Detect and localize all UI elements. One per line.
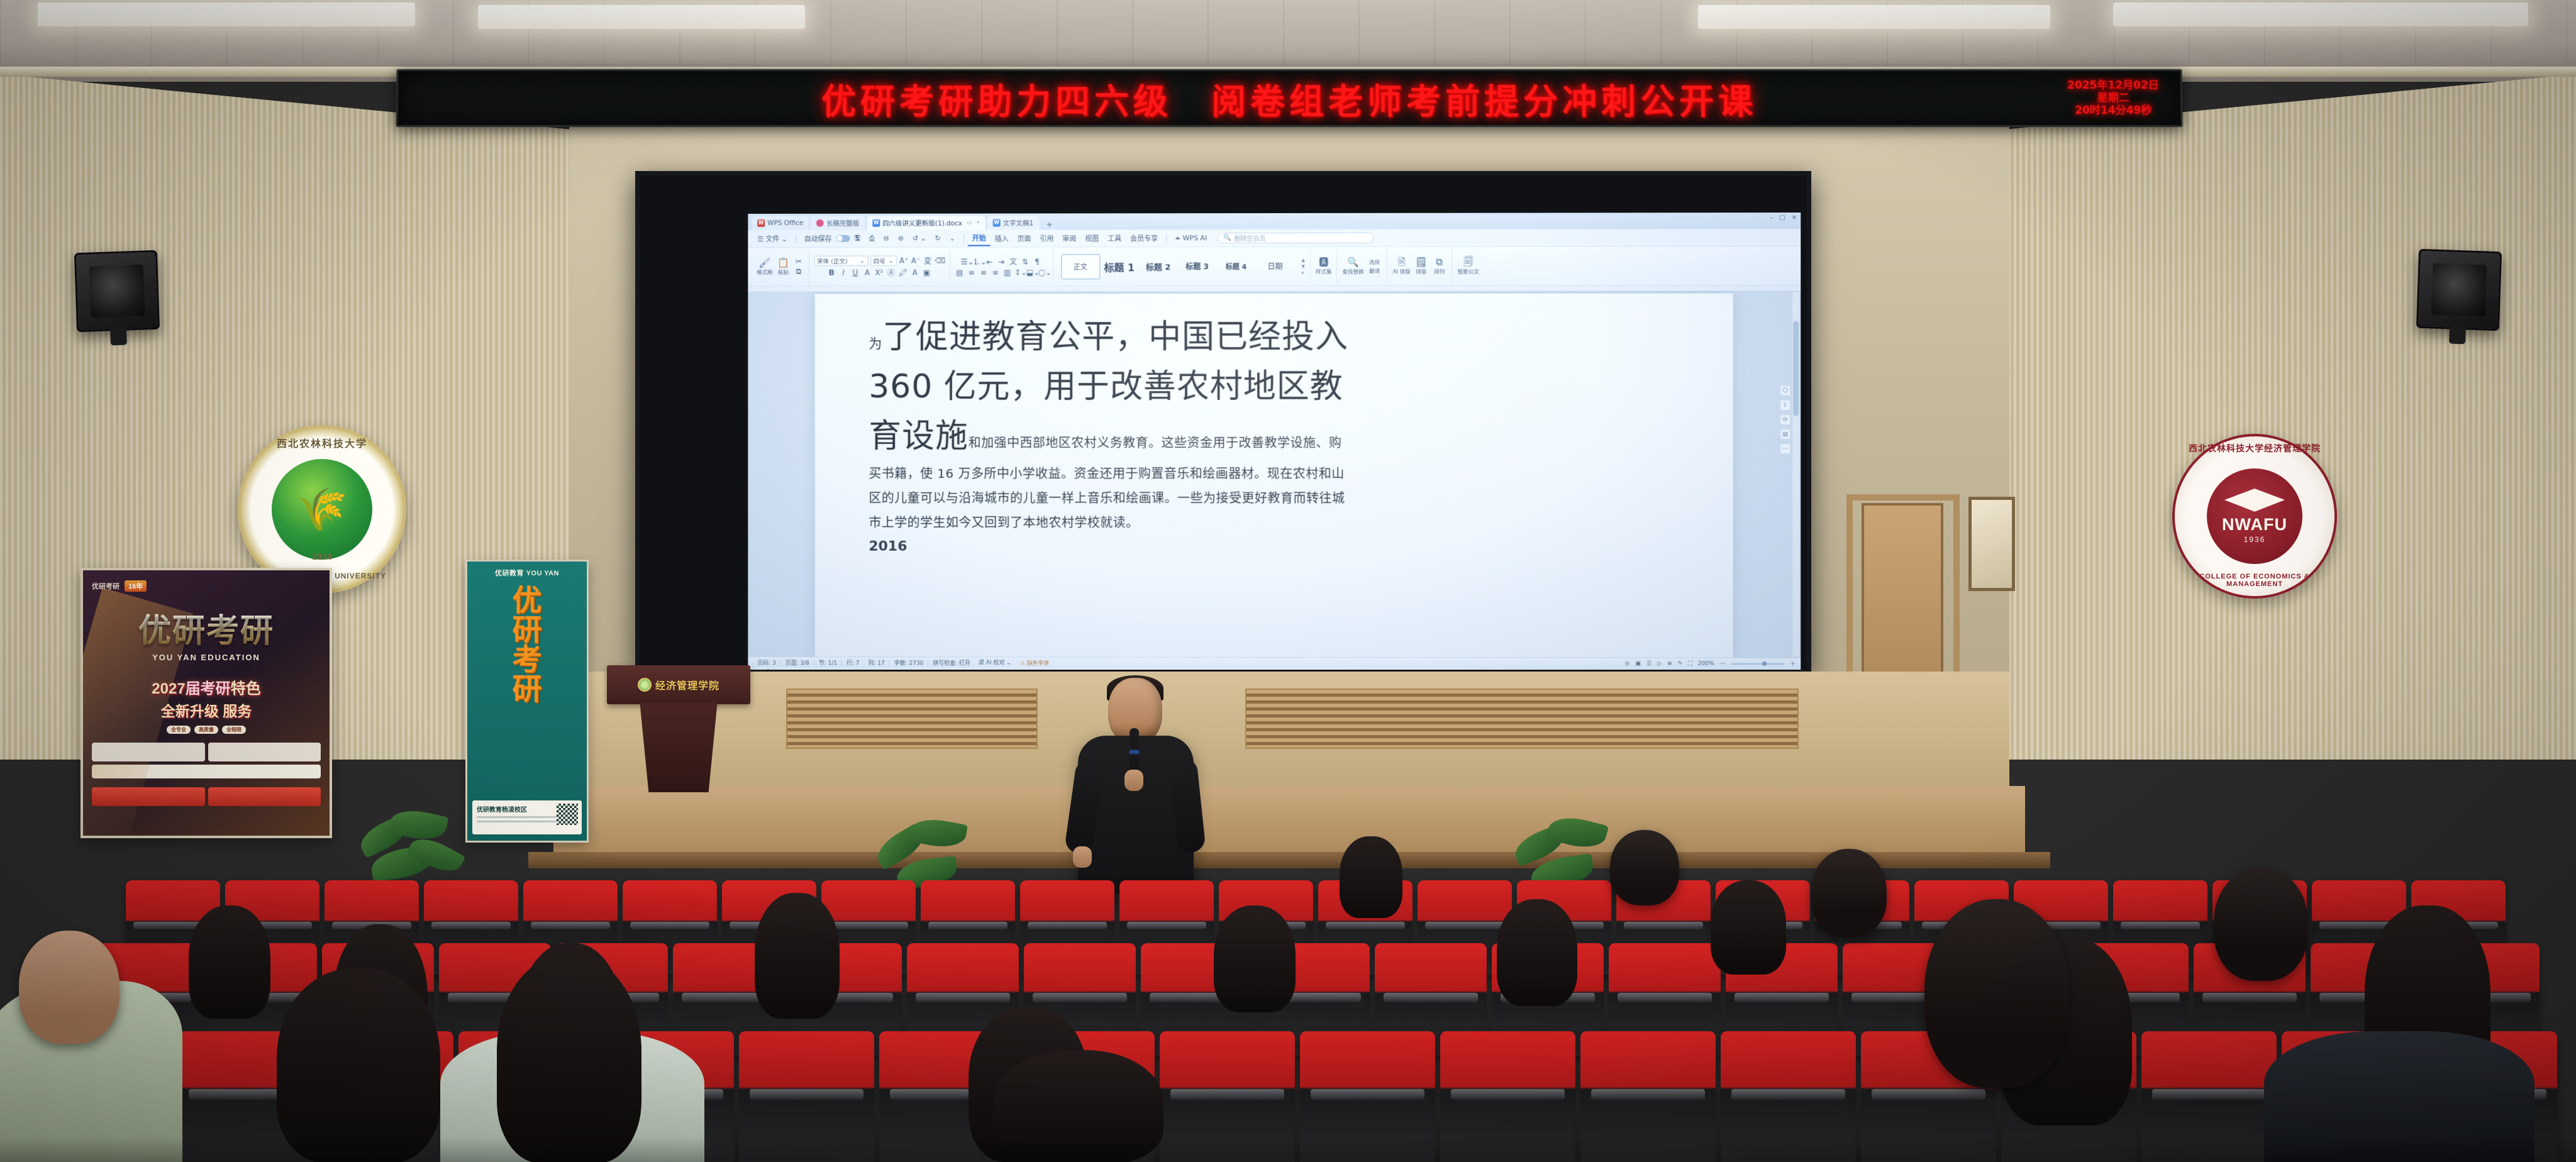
more-icon[interactable]: ⌄ [945,235,960,243]
text-box-button[interactable]: ▣ [922,268,931,277]
speaker-mount [2449,325,2466,345]
numbered-list-icon[interactable]: ⒈⌄ [973,256,982,267]
font-row-top: 宋体 (正文)⌄ 四号⌄ A⁺ A⁻ 変 ⌫ [814,255,944,266]
paragraph-row-bottom: ▤ ≡ ≡ ≡ ▥ ↕⌄ ⬓⌄ ▢⌄ [955,268,1048,277]
heading-prefix-char: 为 [869,336,882,351]
wps-ribbon: 🖌 格式刷 📋 粘贴 ✂ ⧉ [748,246,1801,287]
emblem-right-acronym: NWAFU [2222,515,2287,534]
wall-vent-right [1245,689,1799,749]
audience-member [1711,880,1786,975]
menu-divider [1166,234,1167,243]
tab-doc1[interactable]: W 文字文稿1 [987,216,1039,230]
layout-icon: 🗒 [1415,257,1427,267]
menu-file[interactable]: ☰ 文件 ⌄ [753,233,792,243]
document-canvas[interactable]: 为了促进教育公平，中国已经投入 360 亿元，用于改善农村地区教 育设施和加强中… [748,290,1801,658]
superscript-button[interactable]: X² [874,268,884,277]
clipboard-minor-buttons: ✂ ⧉ [794,257,803,277]
ribbon-search-box[interactable]: 🔍 删除空白页 [1218,233,1374,243]
strikethrough-button[interactable]: A [862,268,872,277]
select-label: 选择 [1369,258,1380,265]
new-tab-button[interactable]: + [1041,220,1058,230]
projection-screen: W WPS Office 长稿完整版 W 四六级讲义更新版(1).docx ▭ … [748,213,1801,674]
window-controls: – □ ✕ [1770,214,1797,221]
podium-header: 经济管理学院 [607,665,750,704]
font-family-select[interactable]: 宋体 (正文)⌄ [814,256,868,266]
menu-tab-reference[interactable]: 引用 [1036,233,1058,243]
document-heading-line-2: 360 亿元，用于改善农村地区教 [869,362,1679,412]
audience-foreground-hair [497,956,641,1162]
wall-speaker-left [74,250,160,333]
menu-tab-insert[interactable]: 插入 [991,233,1013,243]
document-side-toolbar: 🗨 ⇪ ⟳ ▤ ⋯ [1779,385,1791,454]
zoom-slider[interactable] [1731,663,1784,664]
paste-label: 粘贴 [778,268,789,275]
asian-layout-icon[interactable]: 文 [1009,256,1018,267]
ai-layout-button[interactable]: 🗎 AI 排版 [1393,257,1411,275]
menu-tab-page[interactable]: 页面 [1013,233,1036,243]
font-size-select[interactable]: 四号⌄ [870,256,897,266]
wall-right [1991,74,2576,760]
ribbon-group-paragraph: ☰⌄ ⒈⌄ ⇤ ⇥ 文 ⇅ ¶ ▤ ≡ ≡ [950,249,1053,284]
audience-foreground-head [19,931,119,1044]
audience-member [755,893,840,1019]
arrange-label: 排列 [1434,267,1445,275]
shading-icon[interactable]: ⬓⌄ [1026,268,1036,277]
distribute-icon[interactable]: ▥ [1002,268,1012,277]
poster-title: 优研考研 [92,604,321,651]
tab-label: 四六级讲义更新版(1).docx [882,218,962,228]
italic-button[interactable]: I [839,268,848,277]
poster-chip-row: 全专业 高质量 全程陪 [92,726,321,734]
layout-label: 排版 [1416,267,1426,275]
style-set-icon: 🅰 [1319,257,1328,267]
find-replace-button[interactable]: 🔍 查找替换 [1342,257,1363,275]
promo-feature: 特色 [231,680,261,697]
emblem-right-cn-name: 西北农林科技大学经济管理学院 [2175,442,2334,455]
ceiling-light-panel [38,3,415,26]
ceiling-light-panel [2113,3,2528,26]
arrange-icon: ⧉ [1436,257,1443,267]
promo-upgrade: 全新升级 [161,703,219,719]
missing-font-label: 缺失字体 [1027,661,1050,667]
banner-char: 研 [513,616,542,645]
side-more-icon[interactable]: ⋯ [1780,443,1790,454]
tab-wps-office[interactable]: W WPS Office [752,216,809,230]
microphone [1130,728,1139,773]
paragraph-row-top: ☰⌄ ⒈⌄ ⇤ ⇥ 文 ⇅ ¶ [961,256,1042,267]
show-marks-icon[interactable]: ¶ [1033,257,1042,266]
banner-char-stack: 优 研 考 研 [513,587,542,704]
banner-char: 研 [513,675,542,704]
wps-menu-bar: ☰ 文件 ⌄ 自动保存 🖫 ⎙ ⊖ ⊚ ↺ ⌄ ↻ ⌄ 开始 插入 页面 [748,229,1801,248]
grow-font-icon[interactable]: A⁺ [899,257,909,265]
audience-foreground-head [1924,899,2069,1088]
poster-youyan-banner: 优研教育 YOU YAN 优 研 考 研 优研教育杨凌校区 [465,560,589,843]
menu-tab-view[interactable]: 视图 [1080,233,1103,243]
emblem-right-en-name: COLLEGE OF ECONOMICS & MANAGEMENT [2175,573,2334,588]
audience-member [1497,899,1577,1006]
pink-doc-icon [816,219,824,227]
led-banner: 优研考研助力四六级 阅卷组老师考前提分冲刺公开课 2025年12月02日 星期二… [396,69,2182,127]
wall-picture [1968,497,2015,591]
search-icon: 🔍 [1223,235,1231,241]
side-nav-icon[interactable]: ▤ [1780,429,1790,440]
auditorium-seat [1580,1031,1716,1162]
word-doc-icon: W [872,219,880,227]
presenter-mic-hand [1124,770,1143,791]
audience-member [189,905,270,1019]
podium-body [635,703,723,792]
document-body-line-2: 买书籍，使 16 万多所中小学收益。资金还用于购置音乐和绘画器材。现在农村和山 [869,462,1679,486]
status-col: 列: 17 [863,658,889,667]
poster-promo: 2027届考研特色 全新升级 服务 全专业 高质量 全程陪 [92,676,321,734]
wps-ai-label: WPS AI [1182,234,1207,242]
paragraph-controls: ☰⌄ ⒈⌄ ⇤ ⇥ 文 ⇅ ¶ ▤ ≡ ≡ [955,256,1048,277]
tab-pin-icon[interactable]: • [976,220,979,226]
shrink-font-icon[interactable]: A⁻ [911,257,921,265]
tab-close-icon[interactable]: ▭ [967,220,972,226]
underline-button[interactable]: U [851,268,860,277]
tab-cet-lecture-doc[interactable]: W 四六级讲义更新版(1).docx ▭ • [867,216,985,230]
document-page[interactable]: 为了促进教育公平，中国已经投入 360 亿元，用于改善农村地区教 育设施和加强中… [815,293,1733,657]
paste-button[interactable]: 📋 粘贴 [776,258,791,275]
autosave-label: 自动保存 [800,233,836,243]
audience-foreground-hair [994,1050,1163,1162]
ribbon-group-clipboard: 🖌 格式刷 📋 粘贴 ✂ ⧉ [752,250,809,284]
font-size-value: 四号 [874,257,885,265]
banner-char: 考 [513,646,542,674]
status-section: 节: 1/1 [814,658,841,667]
ribbon-group-find: 🔍 查找替换 选择 翻译 [1337,249,1387,284]
poster-chip: 高质量 [194,726,218,734]
format-painter-label: 格式刷 [757,268,772,275]
zoom-slider-knob[interactable] [1762,661,1767,665]
save-icon[interactable]: 🖫 [850,233,865,245]
promo-service: 服务 [223,703,252,719]
magnifier-icon: 🔍 [1347,257,1359,267]
maximize-icon[interactable]: □ [1779,214,1785,221]
status-missing-font[interactable]: ⚠ 缺失字体 [1016,659,1054,667]
heading-tail: 育设施 [869,418,968,455]
emblem-left-cn-name: 西北农林科技大学 [241,435,403,450]
align-left-icon[interactable]: ▤ [955,268,964,277]
status-row: 行: 7 [842,658,863,667]
style-set-label: 样式集 [1316,267,1332,275]
poster-card-grid-2 [92,787,321,806]
undo-icon[interactable]: ↺ ⌄ [908,235,931,243]
scissors-icon[interactable]: ✂ [794,257,803,266]
page-view-icon[interactable]: ▣ [1635,660,1641,667]
print-preview-icon[interactable]: ⎙ [865,234,879,243]
align-center-icon[interactable]: ≡ [967,268,976,277]
focus-icon[interactable]: ◎ [1624,660,1629,667]
style-heading-2[interactable]: 标题 2 [1139,254,1178,279]
font-row-bottom: B I U A X² Ⓐ 🖍 A ▣ [827,267,931,278]
poster-chip: 全程陪 [222,726,246,734]
emblem-right-year: 1936 [2244,535,2266,544]
ribbon-group-styles: 正文 标题 1 标题 2 标题 3 标题 4 日期 ▲ ▼ ▾ [1053,249,1311,284]
tab-draft-doc[interactable]: 长稿完整版 [811,216,865,230]
wps-tab-bar: W WPS Office 长稿完整版 W 四六级讲义更新版(1).docx ▭ … [748,213,1801,230]
style-gallery: 正文 标题 1 标题 2 标题 3 标题 4 日期 [1058,253,1297,279]
wps-office-window: W WPS Office 长稿完整版 W 四六级讲义更新版(1).docx ▭ … [748,213,1801,674]
find-replace-label: 查找替换 [1342,267,1363,275]
style-normal[interactable]: 正文 [1061,254,1100,279]
wall-vent-left [786,689,1038,749]
ribbon-group-smart-doc: 🗐 智能公文 [1453,249,1484,284]
poster-card-highlight [208,787,321,806]
document-scrollbar[interactable] [1792,292,1799,656]
read-icon[interactable]: ▷ [1657,660,1662,667]
menu-file-label: 文件 [766,235,780,243]
poster-card-grid [92,743,321,761]
style-date[interactable]: 日期 [1256,253,1295,279]
side-history-icon[interactable]: ⟳ [1780,414,1790,425]
auditorium-seat [1440,1031,1575,1162]
chevron-down-icon: ⌄ [860,257,865,264]
menu-divider [796,234,796,243]
audience-member [2214,868,2308,981]
wall-speaker-right [2416,249,2502,331]
audience-foreground-coat [2264,1031,2534,1162]
autosave-toggle[interactable] [836,235,850,242]
poster-card [208,743,321,761]
poster-youyan-main: 优研考研 16年 优研考研 YOU YAN EDUCATION 2027届考研特… [80,568,332,838]
poster-card [92,743,205,761]
scroll-down-icon[interactable]: ▼ [1302,263,1305,268]
auditorium-seat [2141,1031,2277,1162]
auditorium-seat [1160,1031,1295,1162]
edit-icon[interactable]: ✎ [1678,660,1683,667]
copy-icon[interactable]: ⧉ [794,267,803,277]
podium: 经济管理学院 [607,665,750,791]
led-banner-headline: 优研考研助力四六级 阅卷组老师考前提分冲刺公开课 [821,73,1758,123]
status-pages: 页面: 3/8 [781,658,814,667]
ai-proof-label: AI 校对 [986,660,1005,666]
style-heading-1[interactable]: 标题 1 [1100,254,1139,279]
increase-indent-icon[interactable]: ⇥ [997,257,1006,266]
document-body-line-3: 区的儿童可以与沿海城市的儿童一样上音乐和绘画课。一些为接受更好教育而转往城 [869,486,1679,511]
document-heading-line-3: 育设施和加强中西部地区农村义务教育。这些资金用于改善教学设施、购 [869,412,1679,462]
style-heading-4[interactable]: 标题 4 [1217,254,1256,279]
text-effects-button[interactable]: Ⓐ [886,267,896,278]
menu-divider [963,234,964,243]
tab-label: WPS Office [767,219,803,227]
menu-tab-start[interactable]: 开始 [968,231,991,246]
led-time: 20时14分49秒 [2067,104,2159,117]
ceiling-light-panel [478,5,805,29]
smart-doc-label: 智能公文 [1458,267,1479,275]
scroll-up-icon[interactable]: ▲ [1302,257,1305,262]
cloud-icon[interactable]: ⊚ [894,235,908,243]
redo-icon[interactable]: ↻ [931,235,945,243]
line-spacing-icon[interactable]: ↕⌄ [1014,268,1024,277]
led-date: 2025年12月02日 [2067,79,2159,92]
banner-footer: 优研教育杨凌校区 [472,800,582,834]
select-button[interactable]: 选择 [1367,258,1382,265]
auditorium-seat [1300,1031,1435,1162]
poster-title-en: YOU YAN EDUCATION [92,653,321,662]
banner-top-label: 优研教育 YOU YAN [495,568,559,578]
presenter-free-hand [1073,846,1092,868]
tab-label: 文字文稿1 [1003,218,1034,228]
document-body-line-4: 市上学的学生如今又回到了本地农村学校就读。 [869,511,1679,536]
poster-promo-line-1: 2027届考研特色 [92,676,321,698]
ribbon-group-style-set: 🅰 样式集 [1311,249,1338,284]
body-line-1: 和加强中西部地区农村义务教育。这些资金用于改善教学设施、购 [969,435,1342,450]
poster-bar [92,765,321,778]
fullscreen-icon[interactable]: ⛶ [1688,660,1692,667]
emblem-left-year: 1934 [241,551,403,562]
ribbon-group-font: 宋体 (正文)⌄ 四号⌄ A⁺ A⁻ 変 ⌫ [809,250,950,284]
align-right-icon[interactable]: ≡ [979,268,988,277]
tab-label: 长稿完整版 [826,218,859,228]
translate-button[interactable]: 翻译 [1367,267,1382,274]
banner-char: 优 [513,587,542,615]
presenter [1069,678,1201,892]
status-spellcheck[interactable]: 拼写检查: 打开 [928,658,975,667]
search-placeholder: 删除空白页 [1235,233,1266,243]
zoom-out-icon[interactable]: － [1720,660,1726,668]
graduation-cap-icon [2224,489,2285,514]
audience-member [1214,905,1296,1012]
poster-card-highlight [92,787,205,806]
font-color-button[interactable]: A [910,268,919,277]
smart-document-button[interactable]: 🗐 智能公文 [1458,257,1479,275]
expand-gallery-icon[interactable]: ▾ [1302,270,1305,275]
poster-promo-line-2: 全新升级 服务 [92,699,321,721]
sort-icon[interactable]: ⇅ [1021,257,1030,266]
podium-label: 经济管理学院 [655,677,719,692]
college-emblem-right: 西北农林科技大学经济管理学院 NWAFU 1936 COLLEGE OF ECO… [2172,434,2337,599]
side-share-icon[interactable]: ⇪ [1780,400,1790,411]
status-word-count[interactable]: 字数: 2730 [890,658,928,667]
document-next-marker: 2016 [869,539,1679,555]
clear-format-icon[interactable]: ⌫ [935,257,944,265]
auditorium-seat [1721,1031,1856,1162]
bullet-list-icon[interactable]: ☰⌄ [961,257,970,266]
nwafu-crest-icon: NWAFU 1936 [2207,468,2302,564]
led-banner-clock: 2025年12月02日 星期二 20时14分49秒 [2067,79,2159,117]
wps-logo-icon: W [757,219,765,227]
decrease-indent-icon[interactable]: ⇤ [985,257,994,266]
speaker-mount [110,326,127,346]
chevron-down-icon: ⌄ [889,257,894,264]
menu-tab-review[interactable]: 审阅 [1058,233,1080,243]
status-right-cluster: ◎ ▣ ☰ ▷ ⊕ ✎ ⛶ 200% － ＋ [1624,660,1796,668]
side-comment-icon[interactable]: 🗨 [1780,385,1790,396]
lecture-hall-scene: 优研考研助力四六级 阅卷组老师考前提分冲刺公开课 2025年12月02日 星期二… [0,0,2576,1162]
translate-label: 翻译 [1369,267,1380,274]
status-ai-proofread[interactable]: 🗹 AI 校对 ⌄ [975,658,1016,668]
status-page-no: 页码: 3 [753,658,780,667]
zoom-level[interactable]: 200% [1698,660,1714,667]
audience-foreground-hair [277,968,440,1162]
poster-top-row: 优研考研 16年 [92,580,321,592]
wheat-icon: 🌾 [272,459,372,560]
ribbon-group-layout: 🗎 AI 排版 🗒 排版 ⧉ 排列 [1388,249,1453,284]
poster-brand-label: 优研考研 [92,581,119,591]
brush-icon: 🖌 [758,258,770,267]
menu-wps-ai[interactable]: ⏶ WPS AI [1170,234,1211,243]
style-gallery-scroll[interactable]: ▲ ▼ ▾ [1302,257,1305,275]
clipboard-icon: 📋 [777,258,789,267]
borders-icon[interactable]: ▢⌄ [1038,268,1048,277]
audience-member [1610,830,1679,905]
audience-member [1340,836,1402,918]
poster-chip: 全专业 [167,726,191,734]
projection-screen-frame: W WPS Office 长稿完整版 W 四六级讲义更新版(1).docx ▭ … [635,171,1811,674]
font-controls: 宋体 (正文)⌄ 四号⌄ A⁺ A⁻ 変 ⌫ [814,255,944,278]
smart-doc-icon: 🗐 [1463,257,1473,267]
led-weekday: 星期二 [2067,92,2159,104]
find-extra: 选择 翻译 [1367,258,1382,274]
zoom-in-icon[interactable]: ＋ [1790,660,1796,668]
close-icon[interactable]: ✕ [1792,214,1797,221]
auditorium-seat [739,1031,874,1162]
menu-tab-tools[interactable]: 工具 [1103,233,1126,243]
document-heading-line-1: 为了促进教育公平，中国已经投入 [869,313,1679,363]
scrollbar-thumb[interactable] [1793,321,1799,416]
menu-tab-member[interactable]: 会员专享 [1126,233,1162,243]
stage-floor [553,786,2025,861]
web-icon[interactable]: ⊕ [1667,660,1672,667]
wps-status-bar: 页码: 3 页面: 3/8 节: 1/1 行: 7 列: 17 字数: 2730… [748,656,1801,669]
style-set-button[interactable]: 🅰 样式集 [1316,257,1332,275]
promo-exam: 届考研 [186,680,231,697]
audience-member [1811,849,1887,937]
outline-icon[interactable]: ☰ [1646,660,1652,667]
poster-anniversary-badge: 16年 [125,580,147,592]
college-logo-icon [638,678,652,692]
qr-code-icon [557,804,578,825]
font-family-value: 宋体 (正文) [817,257,847,265]
justify-icon[interactable]: ≡ [991,268,1000,277]
format-painter-button[interactable]: 🖌 格式刷 [757,258,772,275]
ai-layout-label: AI 排版 [1393,267,1411,275]
ai-layout-icon: 🗎 [1398,257,1406,267]
ceiling-light-panel [1698,5,2050,29]
arrange-button[interactable]: ⧉ 排列 [1432,257,1447,275]
pinyin-guide-icon[interactable]: 変 [923,255,933,266]
print-icon[interactable]: ⊖ [879,235,894,243]
promo-year: 2027 [152,680,185,697]
minimize-icon[interactable]: – [1770,214,1773,221]
style-heading-3[interactable]: 标题 3 [1178,254,1217,279]
layout-button[interactable]: 🗒 排版 [1414,257,1429,275]
heading-main: 了促进教育公平，中国已经投入 [882,318,1348,356]
bold-button[interactable]: B [827,268,836,277]
highlight-color-button[interactable]: 🖍 [898,268,908,277]
word-doc-icon: W [993,219,1001,227]
